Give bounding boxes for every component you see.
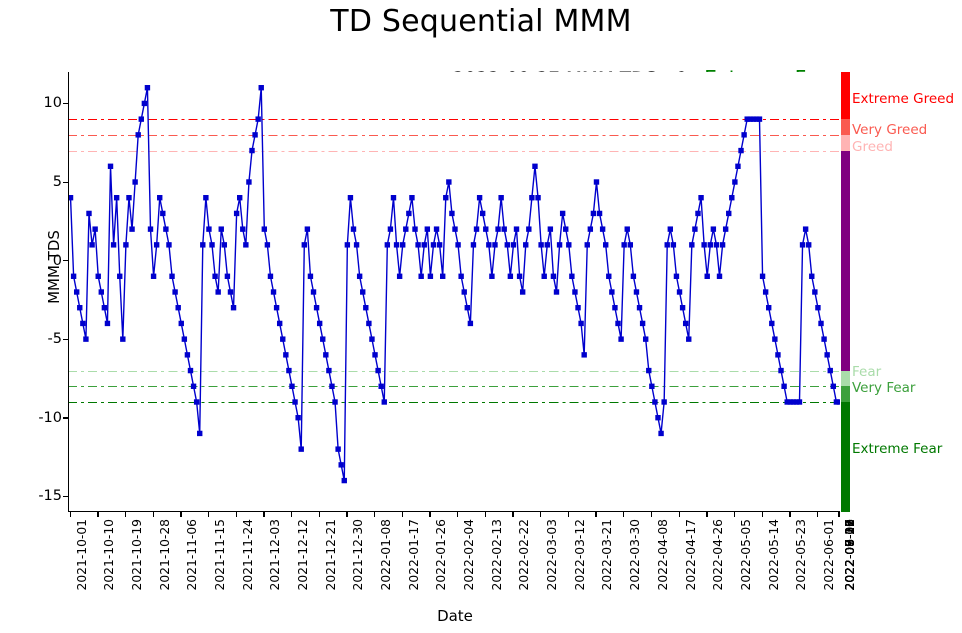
- x-tick-mark: [817, 512, 818, 517]
- tds-marker: [219, 226, 224, 231]
- tds-marker: [154, 242, 159, 247]
- tds-marker: [345, 242, 350, 247]
- x-tick-label: 2022-02-04: [462, 519, 476, 590]
- x-tick-label: 2021-11-06: [185, 519, 199, 590]
- tds-marker: [621, 242, 626, 247]
- tds-marker: [286, 368, 291, 373]
- tds-marker: [111, 242, 116, 247]
- tds-marker: [357, 274, 362, 279]
- tds-marker: [237, 195, 242, 200]
- tds-marker: [259, 85, 264, 90]
- tds-line-series: [69, 72, 840, 511]
- tds-marker: [308, 274, 313, 279]
- tds-marker: [86, 211, 91, 216]
- tds-marker: [818, 321, 823, 326]
- y-tick-label: 5: [53, 174, 62, 190]
- tds-marker: [689, 242, 694, 247]
- x-tick-mark: [153, 512, 154, 517]
- tds-marker: [212, 274, 217, 279]
- tds-marker: [74, 289, 79, 294]
- tds-marker: [812, 289, 817, 294]
- colorbar-label-extreme-fear: Extreme Fear: [852, 441, 942, 457]
- extreme-fear-band: [841, 402, 850, 512]
- tds-marker: [209, 242, 214, 247]
- tds-marker: [280, 336, 285, 341]
- very-fear-band: [841, 386, 850, 402]
- y-axis-ticks: 1050-5-10-15: [0, 72, 62, 512]
- tds-marker: [415, 242, 420, 247]
- tds-marker: [668, 226, 673, 231]
- tds-marker: [69, 195, 73, 200]
- tds-marker: [492, 242, 497, 247]
- plot-inner: [69, 72, 840, 511]
- tds-marker: [498, 195, 503, 200]
- tds-marker: [332, 399, 337, 404]
- tds-marker: [292, 399, 297, 404]
- tds-marker: [821, 336, 826, 341]
- tds-marker: [185, 352, 190, 357]
- tds-marker: [683, 321, 688, 326]
- tds-marker: [443, 195, 448, 200]
- tds-marker: [495, 226, 500, 231]
- x-tick-mark: [236, 512, 237, 517]
- x-tick-label: 2021-10-10: [102, 519, 116, 590]
- x-tick-mark: [429, 512, 430, 517]
- tds-marker: [246, 179, 251, 184]
- tds-marker: [665, 242, 670, 247]
- tds-marker: [692, 226, 697, 231]
- tds-marker: [372, 352, 377, 357]
- tds-marker: [452, 226, 457, 231]
- tds-marker: [760, 274, 765, 279]
- tds-marker: [139, 116, 144, 121]
- tds-marker: [354, 242, 359, 247]
- tds-marker: [262, 226, 267, 231]
- tds-marker: [526, 226, 531, 231]
- tds-marker: [828, 368, 833, 373]
- x-tick-mark: [568, 512, 569, 517]
- tds-marker: [222, 242, 227, 247]
- colorbar-label-very-greed: Very Greed: [852, 122, 927, 138]
- tds-marker: [422, 242, 427, 247]
- tds-marker: [720, 242, 725, 247]
- colorbar-label-very-fear: Very Fear: [852, 380, 915, 396]
- tds-marker: [726, 211, 731, 216]
- tds-marker: [502, 226, 507, 231]
- tds-marker: [289, 384, 294, 389]
- tds-marker: [465, 305, 470, 310]
- x-tick-label: 2022-03-30: [628, 519, 642, 590]
- tds-marker: [797, 399, 802, 404]
- tds-marker: [206, 226, 211, 231]
- x-tick-mark: [374, 512, 375, 517]
- y-tick-label: 0: [53, 253, 62, 269]
- tds-marker: [714, 242, 719, 247]
- tds-marker: [194, 399, 199, 404]
- x-tick-label: 2021-12-03: [268, 519, 282, 590]
- tds-marker: [729, 195, 734, 200]
- tds-marker: [468, 321, 473, 326]
- tds-marker: [612, 305, 617, 310]
- x-tick-label: 2022-04-26: [711, 519, 725, 590]
- tds-marker: [529, 195, 534, 200]
- tds-marker: [649, 384, 654, 389]
- tds-marker: [400, 242, 405, 247]
- x-tick-mark: [125, 512, 126, 517]
- tds-marker: [114, 195, 119, 200]
- tds-marker: [434, 226, 439, 231]
- tds-marker: [188, 368, 193, 373]
- tds-marker: [588, 226, 593, 231]
- tds-marker: [148, 226, 153, 231]
- tds-marker: [618, 336, 623, 341]
- tds-marker: [348, 195, 353, 200]
- tds-marker: [486, 242, 491, 247]
- tds-marker: [80, 321, 85, 326]
- tds-marker: [412, 226, 417, 231]
- tds-marker: [637, 305, 642, 310]
- y-tick-label: -5: [48, 331, 62, 347]
- tds-marker: [781, 384, 786, 389]
- tds-marker: [597, 211, 602, 216]
- x-tick-label: 2022-02-13: [490, 519, 504, 590]
- tds-marker: [108, 164, 113, 169]
- x-tick-mark: [180, 512, 181, 517]
- tds-marker: [305, 226, 310, 231]
- extreme-greed-band: [841, 72, 850, 119]
- tds-marker: [643, 336, 648, 341]
- tds-marker: [634, 289, 639, 294]
- chart-root: TD Sequential MMM 2022-09-27 MMM TDS: -9…: [0, 0, 962, 633]
- x-tick-label: 2022-06-01: [822, 519, 836, 590]
- tds-marker: [225, 274, 230, 279]
- tds-marker: [763, 289, 768, 294]
- tds-marker: [406, 211, 411, 216]
- x-tick-mark: [838, 512, 839, 517]
- tds-marker: [698, 195, 703, 200]
- tds-marker: [231, 305, 236, 310]
- x-tick-mark: [319, 512, 320, 517]
- tds-marker: [778, 368, 783, 373]
- tds-marker: [652, 399, 657, 404]
- tds-marker: [831, 384, 836, 389]
- tds-marker: [102, 305, 107, 310]
- x-tick-label: 2022-02-22: [517, 519, 531, 590]
- tds-marker: [249, 148, 254, 153]
- tds-marker: [655, 415, 660, 420]
- tds-marker: [551, 274, 556, 279]
- tds-marker: [711, 226, 716, 231]
- tds-marker: [132, 179, 137, 184]
- tds-marker: [145, 85, 150, 90]
- tds-marker: [446, 179, 451, 184]
- tds-marker: [757, 116, 762, 121]
- x-axis-label: Date: [0, 607, 910, 625]
- tds-marker: [615, 321, 620, 326]
- tds-marker: [483, 226, 488, 231]
- tds-marker: [569, 274, 574, 279]
- tds-marker: [440, 274, 445, 279]
- tds-marker: [772, 336, 777, 341]
- x-tick-label: 2021-10-01: [75, 519, 89, 590]
- x-tick-label: 2021-10-19: [130, 519, 144, 590]
- tds-marker: [542, 274, 547, 279]
- tds-marker: [680, 305, 685, 310]
- tds-marker: [299, 446, 304, 451]
- tds-marker: [252, 132, 257, 137]
- tds-marker: [403, 226, 408, 231]
- tds-marker: [600, 226, 605, 231]
- tds-marker: [335, 446, 340, 451]
- tds-marker: [705, 274, 710, 279]
- tds-marker: [89, 242, 94, 247]
- tds-marker: [560, 211, 565, 216]
- tds-marker: [646, 368, 651, 373]
- tds-marker: [311, 289, 316, 294]
- tds-marker: [179, 321, 184, 326]
- x-tick-mark: [706, 512, 707, 517]
- plot-area: [68, 72, 840, 512]
- x-tick-label: 2021-12-30: [351, 519, 365, 590]
- tds-marker: [71, 274, 76, 279]
- tds-marker: [369, 336, 374, 341]
- x-tick-mark: [762, 512, 763, 517]
- tds-marker: [809, 274, 814, 279]
- tds-marker: [701, 242, 706, 247]
- tds-marker: [265, 242, 270, 247]
- x-tick-label: 2022-01-17: [407, 519, 421, 590]
- tds-marker: [489, 274, 494, 279]
- x-tick-label: 2022-03-03: [545, 519, 559, 590]
- tds-marker: [800, 242, 805, 247]
- tds-marker: [738, 148, 743, 153]
- x-tick-label: 2022-05-05: [739, 519, 753, 590]
- tds-marker: [105, 321, 110, 326]
- tds-marker: [477, 195, 482, 200]
- tds-marker: [557, 242, 562, 247]
- tds-marker: [160, 211, 165, 216]
- tds-marker: [563, 226, 568, 231]
- very-greed-band: [841, 119, 850, 135]
- tds-marker: [520, 289, 525, 294]
- x-tick-mark: [402, 512, 403, 517]
- tds-marker: [431, 242, 436, 247]
- tds-marker: [609, 289, 614, 294]
- x-tick-mark: [346, 512, 347, 517]
- tds-marker: [99, 289, 104, 294]
- tds-marker: [120, 336, 125, 341]
- tds-marker: [508, 274, 513, 279]
- tds-marker: [96, 274, 101, 279]
- tds-marker: [375, 368, 380, 373]
- tds-marker: [197, 431, 202, 436]
- x-tick-mark: [457, 512, 458, 517]
- x-tick-label: 2022-05-23: [794, 519, 808, 590]
- tds-marker: [191, 384, 196, 389]
- page-title: TD Sequential MMM: [0, 4, 962, 39]
- tds-marker: [474, 226, 479, 231]
- colorbar-label-extreme-greed: Extreme Greed: [852, 91, 954, 107]
- tds-marker: [462, 289, 467, 294]
- tds-marker: [240, 226, 245, 231]
- tds-marker: [523, 242, 528, 247]
- x-tick-label: 2022-01-26: [434, 519, 448, 590]
- tds-marker: [640, 321, 645, 326]
- tds-marker: [366, 321, 371, 326]
- y-tick-label: 10: [44, 95, 62, 111]
- tds-marker: [142, 101, 147, 106]
- tds-marker: [631, 274, 636, 279]
- tds-marker: [360, 289, 365, 294]
- tds-marker: [342, 478, 347, 483]
- x-tick-mark: [208, 512, 209, 517]
- tds-marker: [717, 274, 722, 279]
- y-tick-label: -10: [38, 410, 62, 426]
- tds-marker: [234, 211, 239, 216]
- tds-marker: [735, 164, 740, 169]
- tds-marker: [391, 195, 396, 200]
- tds-marker: [661, 399, 666, 404]
- x-tick-label: 2022-04-08: [656, 519, 670, 590]
- tds-marker: [339, 462, 344, 467]
- tds-marker: [535, 195, 540, 200]
- tds-marker: [766, 305, 771, 310]
- tds-marker: [625, 226, 630, 231]
- tds-marker: [351, 226, 356, 231]
- tds-polyline: [71, 88, 840, 481]
- tds-marker: [77, 305, 82, 310]
- tds-marker: [769, 321, 774, 326]
- x-tick-mark: [291, 512, 292, 517]
- tds-marker: [594, 179, 599, 184]
- x-tick-mark: [595, 512, 596, 517]
- tds-marker: [824, 352, 829, 357]
- tds-marker: [200, 242, 205, 247]
- tds-marker: [382, 399, 387, 404]
- tds-marker: [323, 352, 328, 357]
- tds-marker: [572, 289, 577, 294]
- tds-marker: [671, 242, 676, 247]
- tds-marker: [295, 415, 300, 420]
- tds-marker: [409, 195, 414, 200]
- tds-marker: [658, 431, 663, 436]
- tds-marker: [575, 305, 580, 310]
- tds-marker: [271, 289, 276, 294]
- y-tick-label: -15: [38, 488, 62, 504]
- x-tick-label: 2022-01-08: [379, 519, 393, 590]
- x-tick-label: 2022-09-26: [843, 519, 857, 590]
- x-tick-mark: [789, 512, 790, 517]
- tds-marker: [126, 195, 131, 200]
- tds-marker: [548, 226, 553, 231]
- x-tick-mark: [679, 512, 680, 517]
- tds-marker: [480, 211, 485, 216]
- tds-marker: [215, 289, 220, 294]
- tds-marker: [505, 242, 510, 247]
- tds-marker: [775, 352, 780, 357]
- tds-marker: [455, 242, 460, 247]
- tds-marker: [554, 289, 559, 294]
- tds-marker: [471, 242, 476, 247]
- tds-marker: [329, 384, 334, 389]
- tds-marker: [169, 274, 174, 279]
- tds-marker: [83, 336, 88, 341]
- tds-marker: [136, 132, 141, 137]
- x-tick-mark: [512, 512, 513, 517]
- tds-marker: [708, 242, 713, 247]
- x-tick-label: 2021-10-28: [158, 519, 172, 590]
- tds-marker: [418, 274, 423, 279]
- tds-marker: [385, 242, 390, 247]
- tds-marker: [606, 274, 611, 279]
- x-tick-label: 2021-11-24: [241, 519, 255, 590]
- tds-marker: [175, 305, 180, 310]
- tds-marker: [517, 274, 522, 279]
- tds-marker: [591, 211, 596, 216]
- tds-marker: [283, 352, 288, 357]
- x-tick-mark: [485, 512, 486, 517]
- tds-marker: [723, 226, 728, 231]
- tds-marker: [677, 289, 682, 294]
- tds-marker: [686, 336, 691, 341]
- x-tick-mark: [97, 512, 98, 517]
- tds-marker: [129, 226, 134, 231]
- tds-marker: [363, 305, 368, 310]
- tds-marker: [274, 305, 279, 310]
- tds-marker: [378, 384, 383, 389]
- x-tick-label: 2022-03-12: [573, 519, 587, 590]
- tds-marker: [243, 242, 248, 247]
- greed-band: [841, 135, 850, 151]
- tds-marker: [674, 274, 679, 279]
- tds-marker: [166, 242, 171, 247]
- colorbar-label-greed: Greed: [852, 139, 893, 155]
- tds-marker: [566, 242, 571, 247]
- x-tick-mark: [651, 512, 652, 517]
- tds-marker: [425, 226, 430, 231]
- tds-marker: [511, 242, 516, 247]
- tds-marker: [317, 321, 322, 326]
- tds-marker: [277, 321, 282, 326]
- colorbar-label-fear: Fear: [852, 364, 881, 380]
- tds-marker: [172, 289, 177, 294]
- tds-marker: [532, 164, 537, 169]
- tds-marker: [326, 368, 331, 373]
- tds-marker: [320, 336, 325, 341]
- tds-marker: [815, 305, 820, 310]
- x-tick-label: 2022-05-14: [767, 519, 781, 590]
- x-tick-mark: [263, 512, 264, 517]
- tds-marker: [837, 399, 840, 404]
- x-tick-label: 2022-03-21: [600, 519, 614, 590]
- tds-marker: [314, 305, 319, 310]
- tds-marker: [458, 274, 463, 279]
- x-tick-mark: [70, 512, 71, 517]
- tds-marker: [157, 195, 162, 200]
- tds-marker: [228, 289, 233, 294]
- tds-marker: [545, 242, 550, 247]
- tds-marker: [428, 274, 433, 279]
- tds-marker: [732, 179, 737, 184]
- tds-marker: [117, 274, 122, 279]
- tds-marker: [394, 242, 399, 247]
- tds-marker: [741, 132, 746, 137]
- x-tick-label: 2021-11-15: [213, 519, 227, 590]
- tds-marker: [603, 242, 608, 247]
- tds-marker: [695, 211, 700, 216]
- tds-marker: [803, 226, 808, 231]
- tds-marker: [255, 116, 260, 121]
